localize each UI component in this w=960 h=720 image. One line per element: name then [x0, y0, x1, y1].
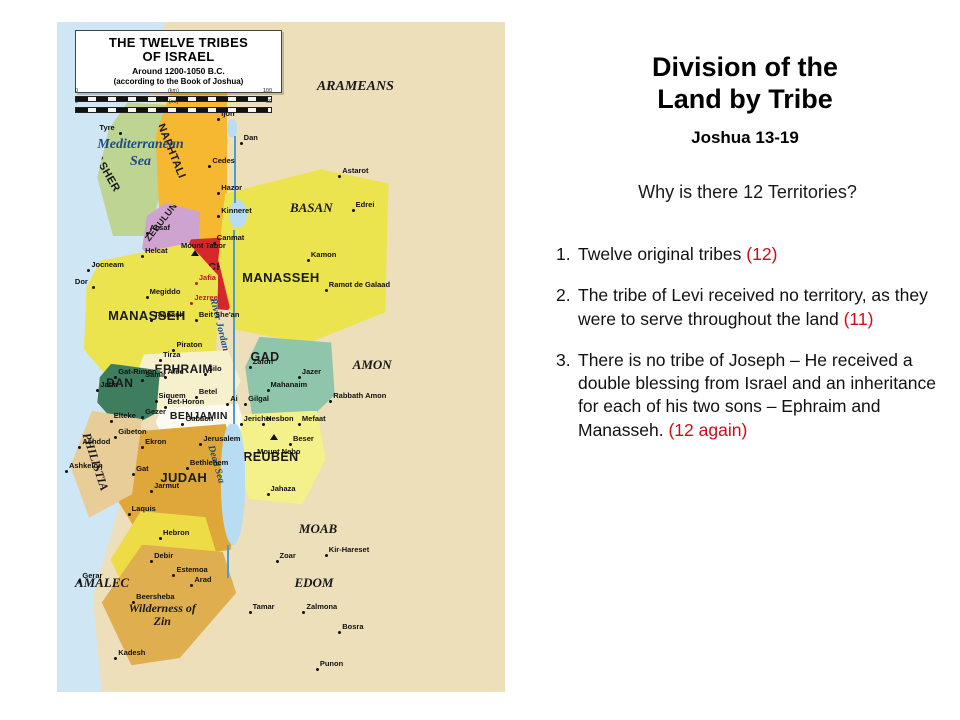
- map-scale-bar: 0 (km) 100 0 (mi) 60: [75, 92, 272, 114]
- mount-tabor-icon: [191, 250, 199, 256]
- title-line-2: Land by Tribe: [545, 84, 945, 116]
- list-item-number: 2.: [556, 284, 578, 331]
- mediterranean-sea-label: Mediterranean Sea: [97, 136, 183, 171]
- list-item: 2. The tribe of Levi received no territo…: [556, 284, 948, 331]
- scale-km-unit: (km): [168, 88, 179, 94]
- question-text: Why is there 12 Territories?: [545, 182, 950, 203]
- legend-title-line1: THE TWELVE TRIBES: [80, 36, 277, 50]
- slide-canvas: ASHER NAPHTALI ZEBULUN ISSACHAR MANASSEH…: [0, 0, 960, 720]
- mount-nebo-icon: [270, 434, 278, 440]
- scale-mi-unit: (mi): [169, 99, 178, 105]
- list-item-text: There is no tribe of Joseph – He receive…: [578, 350, 936, 440]
- list-item-body: The tribe of Levi received no territory,…: [578, 284, 948, 331]
- scale-mi-end: 60: [266, 99, 272, 105]
- list-item-text: The tribe of Levi received no territory,…: [578, 285, 928, 328]
- jordan-river-south: [227, 545, 229, 579]
- scale-km-start: 0: [75, 88, 78, 94]
- legend-title-line2: OF ISRAEL: [80, 50, 277, 64]
- nation-label-arameans: ARAMEANS: [317, 79, 394, 95]
- region-label-manasseh-east: MANASSEH: [242, 270, 320, 285]
- list-item-body: There is no tribe of Joseph – He receive…: [578, 349, 948, 442]
- list-item-number: 3.: [556, 349, 578, 442]
- nation-label-amon: AMON: [353, 357, 392, 373]
- list-item-highlight: (12 again): [668, 420, 747, 440]
- list-item: 3. There is no tribe of Joseph – He rece…: [556, 349, 948, 442]
- list-item-text: Twelve original tribes: [578, 244, 746, 264]
- jordan-river-north: [234, 136, 236, 203]
- title-line-1: Division of the: [545, 52, 945, 84]
- list-item-highlight: (11): [844, 309, 874, 329]
- map-legend-box: THE TWELVE TRIBES OF ISRAEL Around 1200-…: [75, 30, 282, 93]
- scripture-reference: Joshua 13-19: [545, 128, 945, 148]
- nation-label-basan: BASAN: [290, 200, 333, 216]
- scale-km-end: 100: [263, 88, 272, 94]
- nation-label-edom: EDOM: [294, 575, 333, 591]
- nation-label-moab: MOAB: [299, 521, 337, 537]
- page-title: Division of the Land by Tribe: [545, 52, 945, 116]
- region-manasseh-east: MANASSEH: [218, 169, 388, 343]
- lake-hula: [227, 119, 237, 136]
- list-item-highlight: (12): [746, 244, 777, 264]
- list-item-number: 1.: [556, 243, 578, 266]
- scale-mi-bar: [75, 107, 272, 113]
- twelve-tribes-map: ASHER NAPHTALI ZEBULUN ISSACHAR MANASSEH…: [57, 22, 505, 692]
- legend-date: Around 1200-1050 B.C.: [80, 66, 277, 76]
- numbered-points-list: 1. Twelve original tribes (12) 2. The tr…: [556, 243, 948, 460]
- nation-label-wilderness-of-zin: Wilderness of Zin: [129, 602, 196, 630]
- legend-source: (according to the Book of Joshua): [80, 77, 277, 86]
- list-item: 1. Twelve original tribes (12): [556, 243, 948, 266]
- scale-mi-start: 0: [75, 99, 78, 105]
- list-item-body: Twelve original tribes (12): [578, 243, 948, 266]
- scale-row-mi: 0 (mi) 60: [75, 103, 272, 114]
